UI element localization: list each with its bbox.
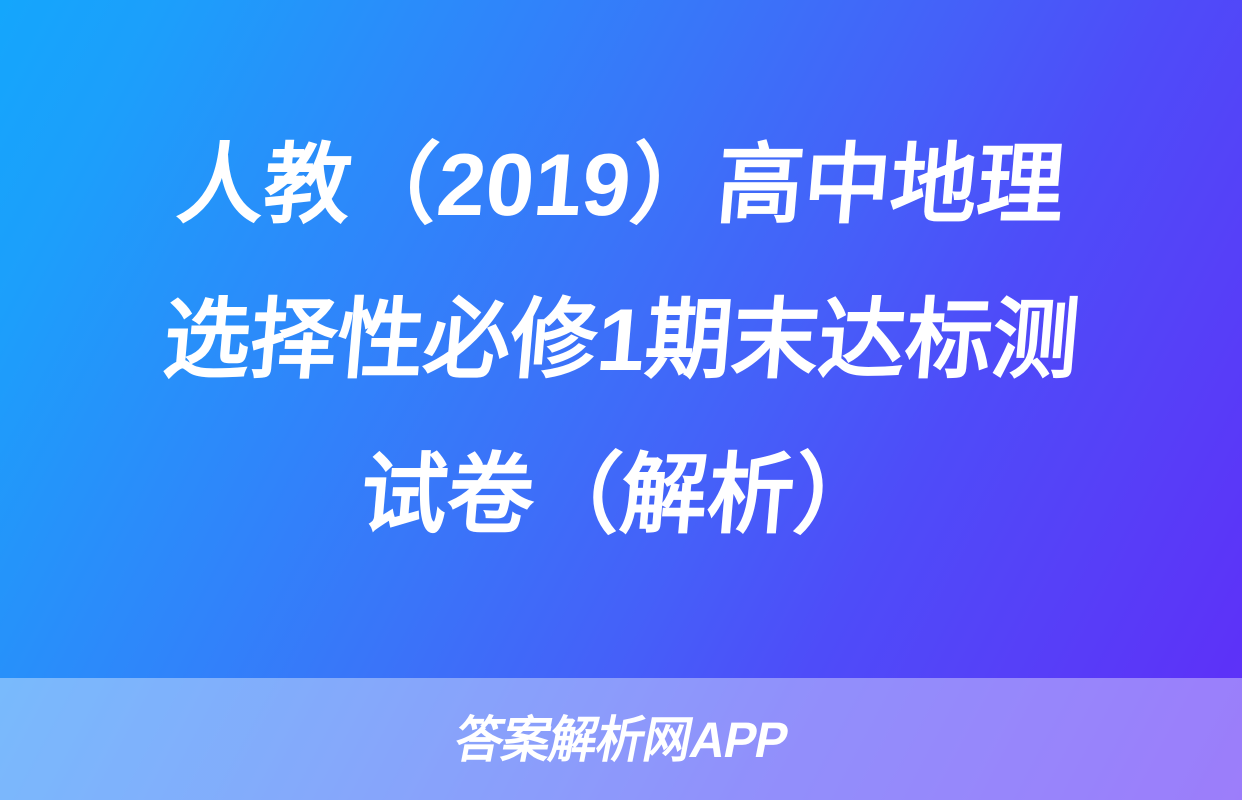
brand-watermark: 答案解析网APP	[451, 715, 792, 765]
cover-title-block: 人教（2019）高中地理 选择性必修1期末达标测 试卷（解析）	[0, 0, 1242, 678]
cover-title-line-1: 人教（2019）高中地理	[171, 107, 1071, 262]
cover-title-line-3: 试卷（解析）	[354, 417, 887, 572]
footer-brand-band: 答案解析网APP	[0, 678, 1242, 800]
cover-title-line-2: 选择性必修1期末达标测	[157, 262, 1085, 417]
cover-banner: 人教（2019）高中地理 选择性必修1期末达标测 试卷（解析） 答案解析网APP	[0, 0, 1242, 800]
